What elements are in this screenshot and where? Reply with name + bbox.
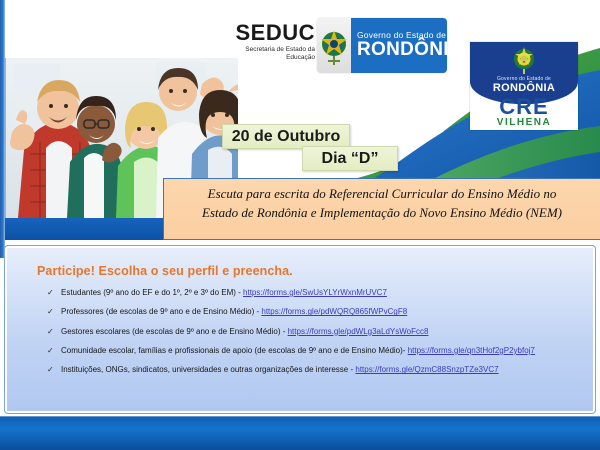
list-item: ✓Gestores escolares (de escolas de 9º an…	[47, 328, 583, 337]
forms-panel: Participe! Escolha o seu perfil e preenc…	[5, 246, 595, 413]
form-link[interactable]: https://forms.gle/SwUsYLYrWxnMrUVC7	[243, 288, 387, 297]
gov-badge-line2: RONDÔNIA	[357, 40, 447, 60]
form-link[interactable]: https://forms.gle/qn3tHof2gP2ybfoj7	[408, 346, 535, 355]
list-item: ✓Professores (de escolas de 9º ano e de …	[47, 308, 583, 317]
cre-city: VILHENA	[470, 118, 578, 128]
checkmark-icon: ✓	[47, 328, 55, 336]
checkmark-icon: ✓	[47, 289, 55, 297]
checkmark-icon: ✓	[47, 366, 55, 374]
forms-list: ✓Estudantes (9º ano do EF e do 1º, 2º e …	[19, 289, 583, 375]
brazil-coat-of-arms-icon	[317, 18, 351, 73]
seduc-subtitle-line2: Educação	[205, 54, 315, 62]
seduc-logo: SEDUC Secretaria de Estado da Educação	[205, 22, 315, 67]
event-title-line2: Estado de Rondônia e Implementação do No…	[202, 205, 562, 220]
cre-state-name: RONDÔNIA	[493, 82, 555, 94]
form-link[interactable]: https://forms.gle/QzmC88SnzpTZe3VC7	[355, 365, 498, 374]
slide-canvas: SEDUC Secretaria de Estado da Educação G…	[0, 0, 600, 450]
rondonia-coat-of-arms-icon	[509, 45, 539, 75]
callout-date-label: 20 de Outubro	[232, 128, 340, 146]
cre-acronym: CRE	[470, 97, 578, 118]
list-item-text: Estudantes (9º ano do EF e do 1º, 2º e 3…	[61, 289, 387, 298]
list-item-text: Professores (de escolas de 9º ano e de E…	[61, 308, 407, 317]
list-item: ✓Estudantes (9º ano do EF e do 1º, 2º e …	[47, 289, 583, 298]
checkmark-icon: ✓	[47, 308, 55, 316]
cre-vilhena-logo: Governo do Estado de RONDÔNIA CRE VILHEN…	[470, 42, 578, 130]
left-accent-rule	[0, 0, 5, 258]
callout-day: Dia “D”	[302, 146, 398, 171]
checkmark-icon: ✓	[47, 347, 55, 355]
governo-rondonia-badge: Governo do Estado de RONDÔNIA	[317, 18, 447, 73]
callout-day-label: Dia “D”	[322, 150, 379, 168]
bottom-accent-bar	[0, 416, 600, 450]
list-item: ✓Instituições, ONGs, sindicatos, univers…	[47, 366, 583, 375]
form-link[interactable]: https://forms.gle/pdWLg3aLdYsWoFcc8	[288, 327, 429, 336]
event-title-panel: Escuta para escrita do Referencial Curri…	[163, 178, 600, 240]
list-item-text: Comunidade escolar, famílias e profissio…	[61, 347, 535, 356]
list-item: ✓Comunidade escolar, famílias e profissi…	[47, 347, 583, 356]
seduc-subtitle-line1: Secretaria de Estado da	[205, 46, 315, 54]
list-item-text: Instituições, ONGs, sindicatos, universi…	[61, 366, 499, 375]
seduc-acronym: SEDUC	[205, 22, 315, 44]
event-title-line1: Escuta para escrita do Referencial Curri…	[208, 186, 557, 201]
form-link[interactable]: https://forms.gle/pdWQRQ865fWPvCgF8	[261, 307, 407, 316]
list-item-text: Gestores escolares (de escolas de 9º ano…	[61, 328, 428, 337]
panel-heading: Participe! Escolha o seu perfil e preenc…	[37, 264, 583, 278]
